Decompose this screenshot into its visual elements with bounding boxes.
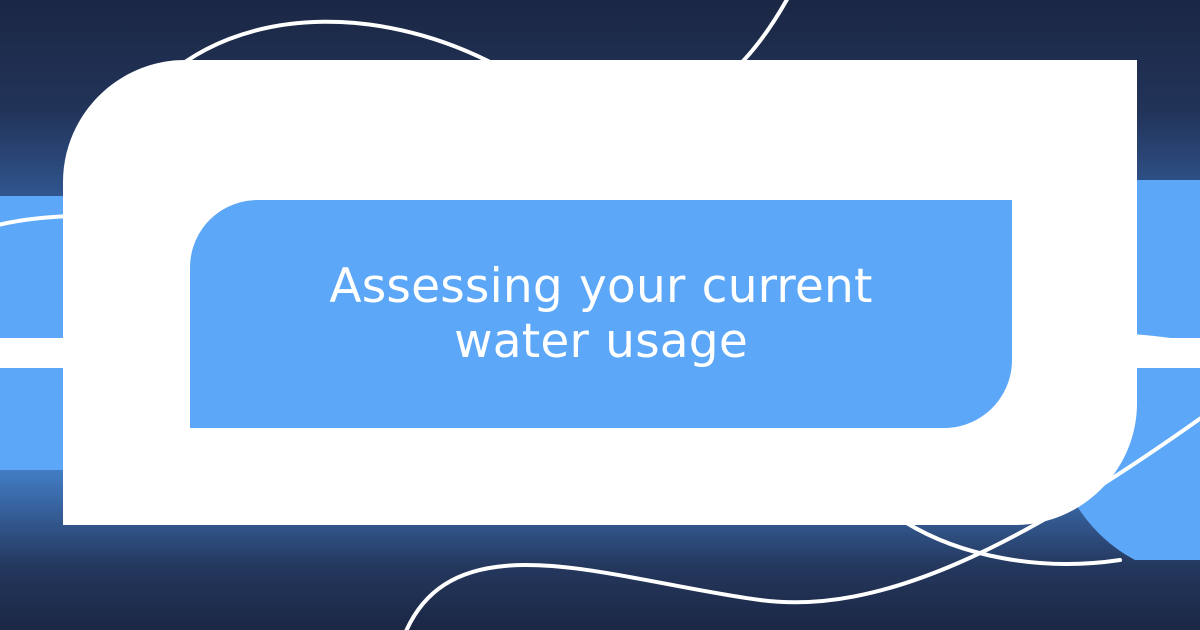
wave-bottom-s [404, 408, 1200, 630]
wave-right-edge [1018, 335, 1200, 348]
wave-decor-layer [0, 0, 1200, 630]
wave-bottom-right-tail [905, 522, 1120, 564]
banner-canvas: Assessing your current water usage [0, 0, 1200, 630]
wave-left-edge [0, 216, 186, 230]
wave-top-arc [150, 0, 790, 115]
